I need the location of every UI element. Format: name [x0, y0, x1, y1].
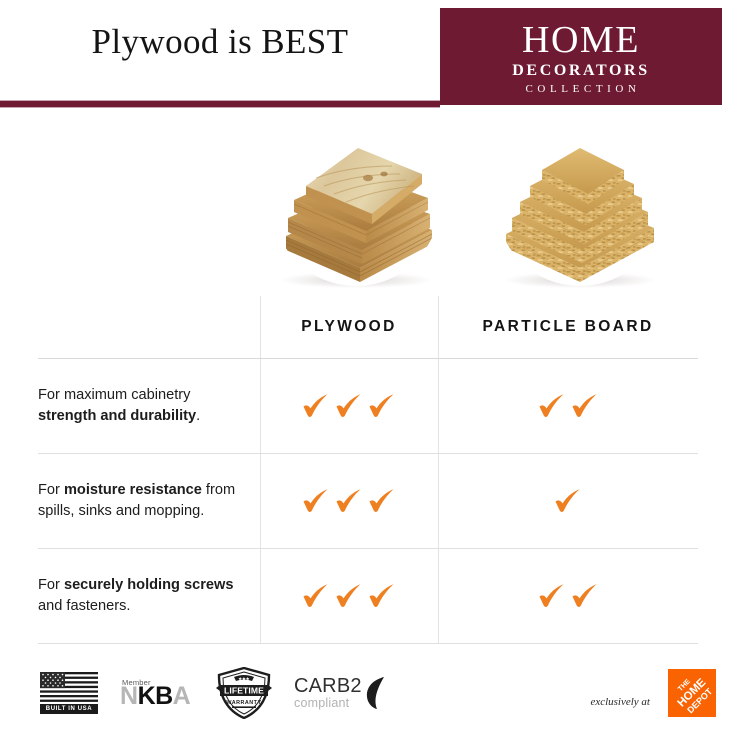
svg-text:★★★: ★★★: [238, 676, 250, 681]
row-label-text: .: [196, 408, 200, 424]
logo-line-collection: COLLECTION: [521, 83, 640, 95]
header-cell-plywood: PLYWOOD: [260, 296, 438, 358]
column-title-plywood: PLYWOOD: [260, 318, 438, 336]
home-depot-logo: THE HOME DEPOT: [668, 669, 716, 717]
particle-board-photo: [496, 118, 664, 286]
row-label-text: For: [38, 482, 64, 498]
product-photos: [0, 112, 736, 292]
leaf-icon: [364, 675, 386, 711]
comparison-table: PLYWOOD PARTICLE BOARD For maximum cabin…: [38, 296, 698, 644]
home-decorators-logo: HOME DECORATORS COLLECTION: [440, 8, 722, 105]
table-header-row: PLYWOOD PARTICLE BOARD: [38, 296, 698, 359]
nkba-letter-kb: KB: [138, 682, 173, 710]
table-row: For securely holding screws and fastener…: [38, 549, 698, 644]
checkmark-icon: [553, 488, 583, 514]
row-label-text: For: [38, 577, 64, 593]
nkba-wordmark: NKBA: [120, 684, 194, 709]
row-label-text: and fasteners.: [38, 598, 131, 614]
checkmark-icon: [301, 488, 331, 514]
row-label-emphasis: securely holding screws: [64, 577, 234, 593]
checkmark-icon: [537, 583, 567, 609]
cell-plywood-rating: [260, 454, 438, 548]
usa-flag-icon: [40, 672, 98, 702]
checkmark-group: [301, 583, 397, 609]
checkmark-icon: [334, 393, 364, 419]
nkba-letter-n: N: [120, 682, 138, 710]
built-in-usa-caption: BUILT IN USA: [40, 704, 98, 714]
table-row: For moisture resistance from spills, sin…: [38, 454, 698, 549]
checkmark-icon: [367, 583, 397, 609]
warranty-text: WARRANTY: [226, 700, 261, 706]
carb2-main-label: CARB2: [294, 676, 362, 696]
exclusively-at-text: exclusively at: [590, 696, 650, 708]
cell-plywood-rating: [260, 549, 438, 643]
checkmark-icon: [570, 583, 600, 609]
carb2-text: CARB2 compliant: [294, 676, 362, 709]
header-cell-particle-board: PARTICLE BOARD: [438, 296, 698, 358]
table-rows: For maximum cabinetry strength and durab…: [38, 359, 698, 644]
row-label: For securely holding screws and fastener…: [38, 575, 260, 616]
page-title: Plywood is BEST: [0, 22, 440, 62]
carb2-badge: CARB2 compliant: [294, 675, 386, 711]
carb2-sub-label: compliant: [294, 697, 362, 710]
checkmark-group: [301, 393, 397, 419]
cell-particle-board-rating: [438, 359, 698, 453]
lifetime-warranty-badge: ★★★ LIFETIME WARRANTY: [216, 667, 272, 719]
nkba-badge: Member NKBA: [120, 678, 194, 709]
header-accent-rule: [0, 100, 440, 108]
row-label-emphasis: strength and durability: [38, 408, 196, 424]
column-title-particle-board: PARTICLE BOARD: [438, 318, 698, 336]
checkmark-icon: [570, 393, 600, 419]
row-label-emphasis: moisture resistance: [64, 482, 202, 498]
cell-particle-board-rating: [438, 549, 698, 643]
checkmark-group: [537, 583, 600, 609]
checkmark-icon: [537, 393, 567, 419]
checkmark-icon: [301, 393, 331, 419]
built-in-usa-badge: BUILT IN USA: [40, 672, 98, 714]
row-label: For maximum cabinetry strength and durab…: [38, 385, 260, 426]
checkmark-group: [537, 393, 600, 419]
cell-particle-board-rating: [438, 454, 698, 548]
logo-line-home: HOME: [522, 22, 640, 59]
logo-line-decorators: DECORATORS: [512, 62, 649, 80]
checkmark-group: [301, 488, 397, 514]
certification-badges: BUILT IN USA Member NKBA ★★★ LIFETIME WA…: [40, 667, 386, 719]
checkmark-icon: [301, 583, 331, 609]
checkmark-icon: [367, 393, 397, 419]
checkmark-icon: [334, 488, 364, 514]
header: Plywood is BEST HOME DECORATORS COLLECTI…: [0, 0, 736, 110]
row-label-text: For maximum cabinetry: [38, 387, 190, 403]
table-row: For maximum cabinetry strength and durab…: [38, 359, 698, 454]
infographic-page: Plywood is BEST HOME DECORATORS COLLECTI…: [0, 0, 736, 736]
footer: BUILT IN USA Member NKBA ★★★ LIFETIME WA…: [0, 655, 736, 736]
checkmark-icon: [367, 488, 397, 514]
lifetime-banner-text: LIFETIME: [224, 686, 264, 696]
plywood-photo: [272, 118, 440, 286]
checkmark-icon: [334, 583, 364, 609]
row-label: For moisture resistance from spills, sin…: [38, 480, 260, 521]
checkmark-group: [553, 488, 583, 514]
cell-plywood-rating: [260, 359, 438, 453]
nkba-letter-a: A: [173, 682, 191, 710]
